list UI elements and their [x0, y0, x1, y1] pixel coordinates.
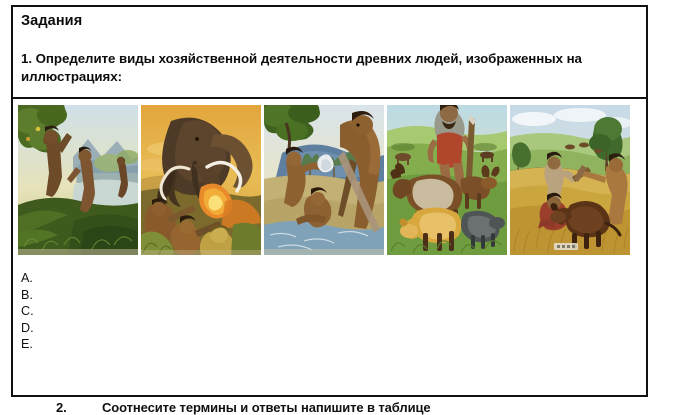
- fishing-scene-icon: [264, 105, 384, 255]
- illustration-farming-harvest: [510, 105, 630, 255]
- answer-option-c[interactable]: C.: [21, 303, 321, 320]
- illustration-strip: [18, 105, 624, 255]
- illustration-herding-livestock: [387, 105, 507, 255]
- answer-option-e[interactable]: E.: [21, 336, 321, 353]
- illustration-fishing: [264, 105, 384, 255]
- answer-option-a[interactable]: A.: [21, 270, 321, 287]
- next-task-line: 2.Соотнесите термины и ответы напишите в…: [56, 400, 686, 415]
- task-header-cell: Задания 1. Определите виды хозяйственной…: [13, 7, 646, 99]
- answer-option-d[interactable]: D.: [21, 320, 321, 337]
- next-task-text: Соотнесите термины и ответы напишите в т…: [102, 400, 430, 415]
- page-title: Задания: [21, 13, 636, 30]
- illustration-mammoth-hunt: [141, 105, 261, 255]
- answer-options-list: A. B. C. D. E.: [21, 270, 321, 353]
- mammoth-hunt-scene-icon: [141, 105, 261, 255]
- farming-harvest-scene-icon: [510, 105, 630, 255]
- task-box: Задания 1. Определите виды хозяйственной…: [11, 5, 648, 397]
- next-task-number: 2.: [56, 400, 102, 415]
- question-1-text: 1. Определите виды хозяйственной деятель…: [21, 50, 636, 85]
- illustration-gathering-fruit: [18, 105, 138, 255]
- gathering-fruit-scene-icon: [18, 105, 138, 255]
- herding-livestock-scene-icon: [387, 105, 507, 255]
- answer-option-b[interactable]: B.: [21, 287, 321, 304]
